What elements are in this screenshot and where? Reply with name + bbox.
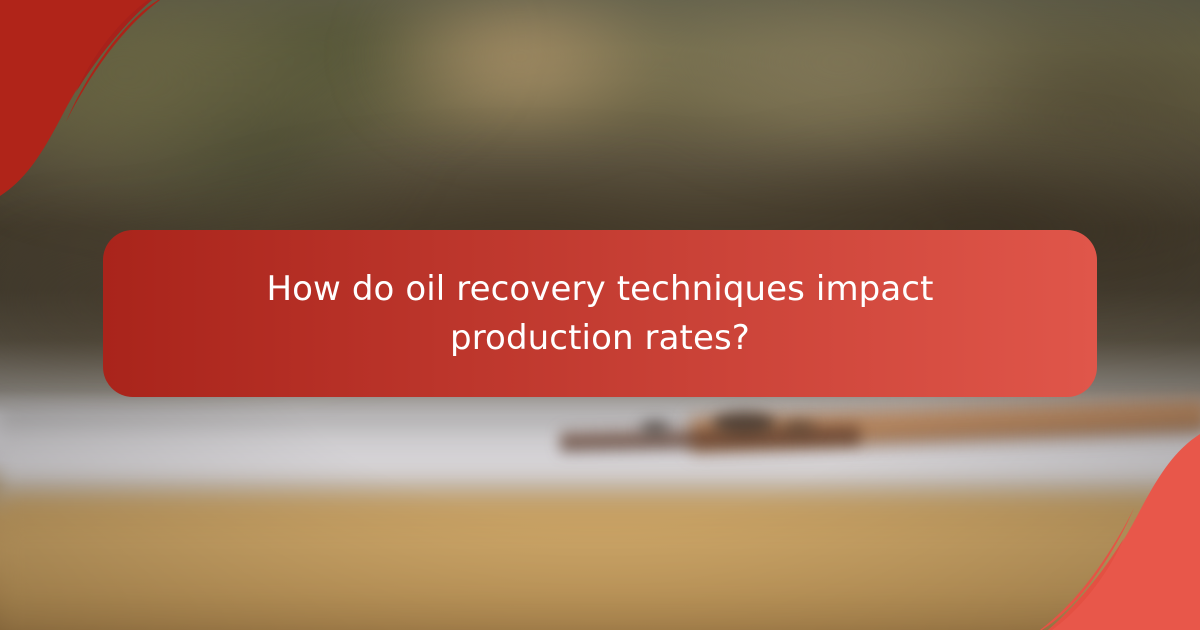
question-text: How do oil recovery techniques impact pr… (250, 265, 950, 362)
swoosh-top-left-icon (0, 0, 230, 230)
question-banner: How do oil recovery techniques impact pr… (103, 230, 1097, 397)
background-object (712, 412, 776, 434)
question-card: How do oil recovery techniques impact pr… (0, 0, 1200, 630)
background-wood-band (0, 482, 1200, 630)
background-object (640, 420, 670, 436)
background-object (782, 420, 816, 434)
